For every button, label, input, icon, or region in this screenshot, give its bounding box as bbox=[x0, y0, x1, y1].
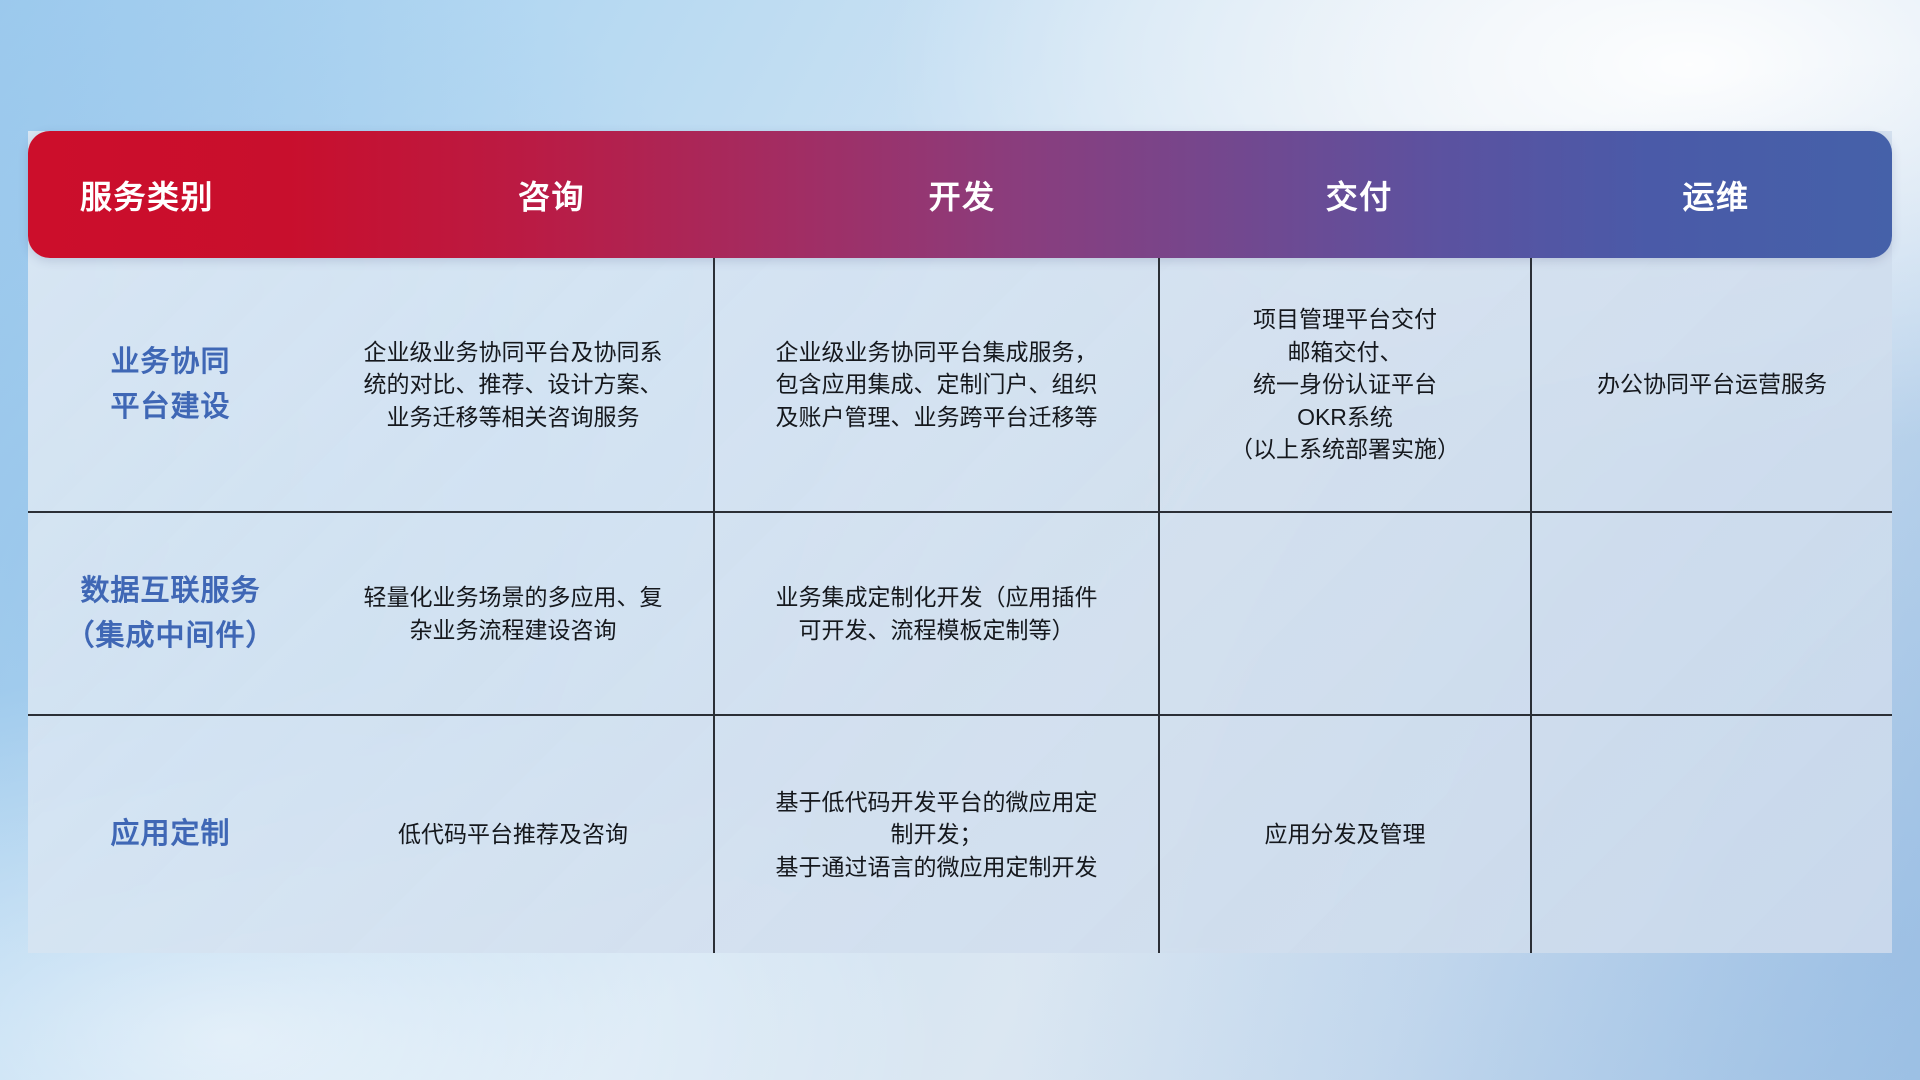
row-category-label: 应用定制 bbox=[28, 716, 313, 953]
cell-delivery: 项目管理平台交付 邮箱交付、 统一身份认证平台 OKR系统 （以上系统部署实施） bbox=[1158, 258, 1530, 511]
cell-operations bbox=[1530, 716, 1892, 953]
cell-delivery: 应用分发及管理 bbox=[1158, 716, 1530, 953]
cell-development: 企业级业务协同平台集成服务， 包含应用集成、定制门户、组织 及账户管理、业务跨平… bbox=[713, 258, 1158, 511]
cell-development: 基于低代码开发平台的微应用定 制开发； 基于通过语言的微应用定制开发 bbox=[713, 716, 1158, 953]
row-category-label: 业务协同 平台建设 bbox=[28, 258, 313, 511]
cell-consulting: 低代码平台推荐及咨询 bbox=[313, 716, 713, 953]
cell-operations: 办公协同平台运营服务 bbox=[1530, 258, 1892, 511]
row-category-label: 数据互联服务 （集成中间件） bbox=[28, 513, 313, 714]
cell-operations bbox=[1530, 513, 1892, 714]
column-header-operations: 运维 bbox=[1540, 172, 1892, 218]
cell-development: 业务集成定制化开发（应用插件 可开发、流程模板定制等） bbox=[713, 513, 1158, 714]
column-header-consulting: 咨询 bbox=[357, 172, 746, 218]
column-header-service-category: 服务类别 bbox=[28, 172, 357, 218]
cell-delivery bbox=[1158, 513, 1530, 714]
column-header-delivery: 交付 bbox=[1178, 172, 1540, 218]
slide-page: 服务类别 咨询 开发 交付 运维 业务协同 平台建设 企业级业务协同平台及协同系… bbox=[0, 0, 1920, 1080]
table-row: 业务协同 平台建设 企业级业务协同平台及协同系 统的对比、推荐、设计方案、 业务… bbox=[28, 258, 1892, 511]
service-matrix-table: 服务类别 咨询 开发 交付 运维 业务协同 平台建设 企业级业务协同平台及协同系… bbox=[28, 131, 1892, 953]
cell-consulting: 轻量化业务场景的多应用、复 杂业务流程建设咨询 bbox=[313, 513, 713, 714]
table-row: 数据互联服务 （集成中间件） 轻量化业务场景的多应用、复 杂业务流程建设咨询 业… bbox=[28, 511, 1892, 714]
table-row: 应用定制 低代码平台推荐及咨询 基于低代码开发平台的微应用定 制开发； 基于通过… bbox=[28, 714, 1892, 953]
table-body: 业务协同 平台建设 企业级业务协同平台及协同系 统的对比、推荐、设计方案、 业务… bbox=[28, 258, 1892, 953]
column-header-development: 开发 bbox=[746, 172, 1179, 218]
cell-consulting: 企业级业务协同平台及协同系 统的对比、推荐、设计方案、 业务迁移等相关咨询服务 bbox=[313, 258, 713, 511]
table-header-row: 服务类别 咨询 开发 交付 运维 bbox=[28, 131, 1892, 258]
